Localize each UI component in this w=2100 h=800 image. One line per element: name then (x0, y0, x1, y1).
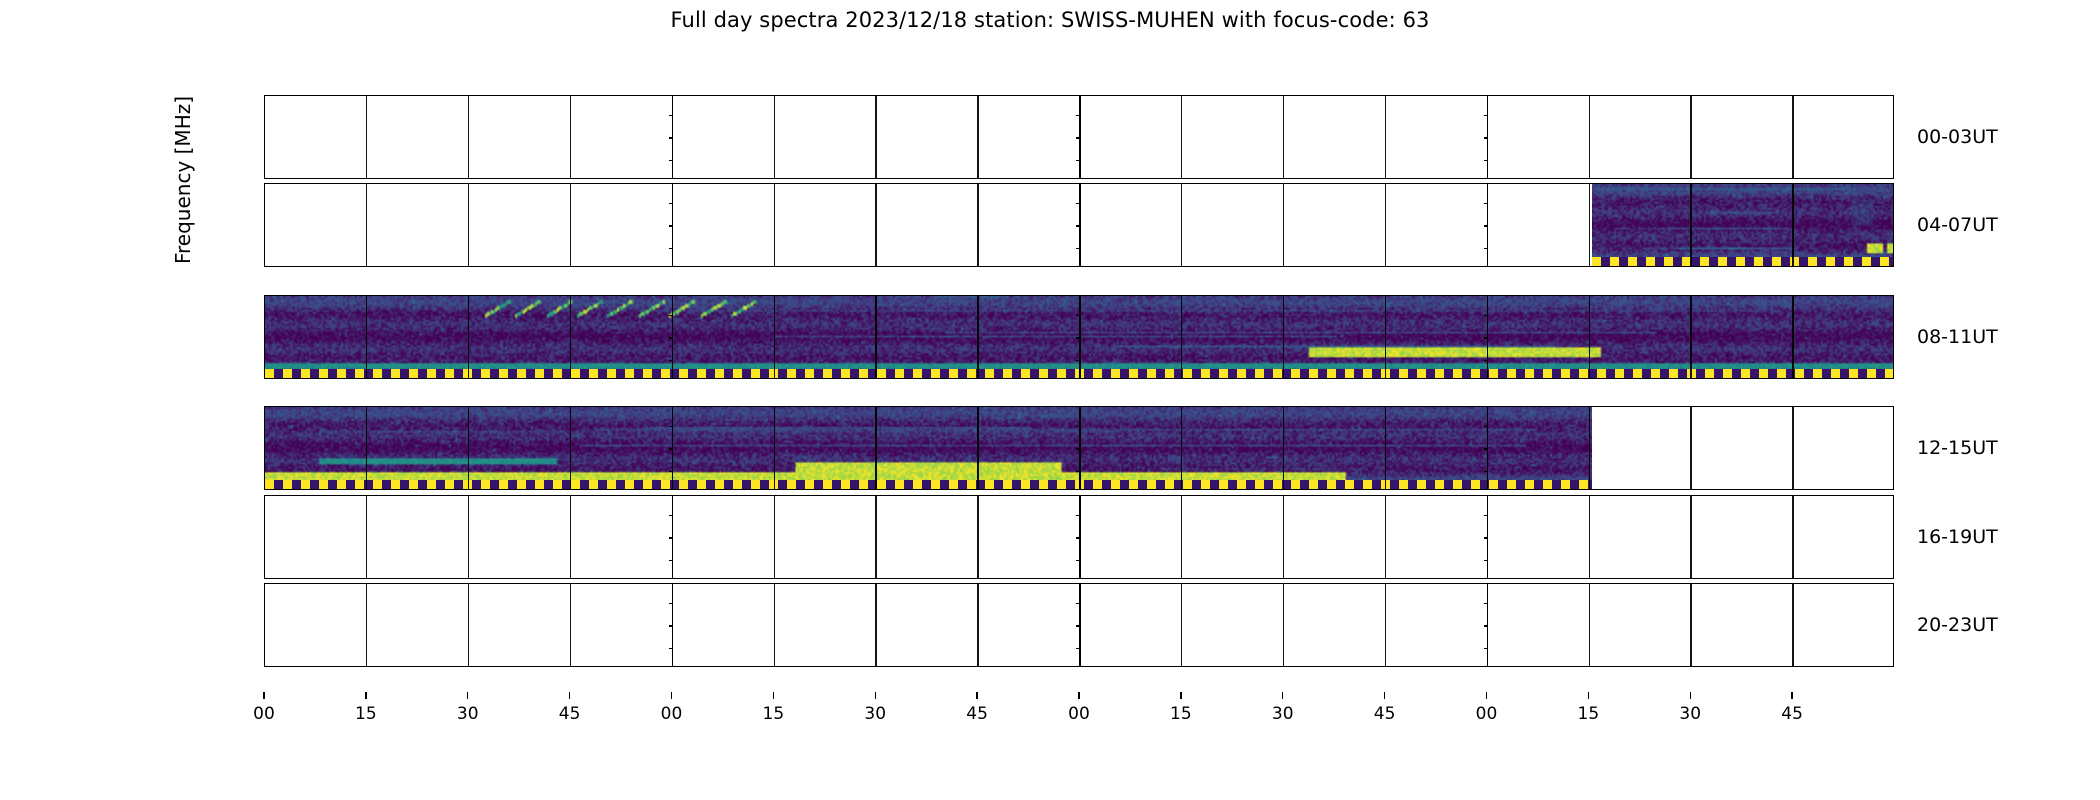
x-tick-label: 15 (1578, 704, 1600, 724)
panel-separator (1792, 407, 1793, 489)
y-inner-tick (1076, 337, 1080, 338)
panel-separator (875, 184, 876, 266)
y-inner-tick (1484, 625, 1488, 626)
x-tick-label: 45 (966, 704, 988, 724)
panel-separator (1181, 584, 1182, 666)
panel-separator (1385, 296, 1386, 378)
panel-separator (1181, 407, 1182, 489)
panel-separator (1385, 96, 1386, 178)
y-inner-tick (669, 115, 673, 116)
spectrogram-row-12-15ut: 755025 (264, 406, 1894, 490)
y-tick-mark (264, 471, 265, 472)
y-tick-mark (264, 137, 265, 138)
panel-separator (468, 184, 469, 266)
x-tick-mark (1282, 692, 1283, 699)
panel-separator (1792, 584, 1793, 666)
x-tick-mark (773, 692, 774, 699)
y-inner-tick (669, 360, 673, 361)
y-tick-mark (264, 225, 265, 226)
y-inner-tick (669, 426, 673, 427)
y-inner-tick (1076, 203, 1080, 204)
panel-separator (1690, 184, 1691, 266)
y-inner-tick (1076, 225, 1080, 226)
y-inner-tick (1484, 603, 1488, 604)
panel-separator (1792, 96, 1793, 178)
x-tick-label: 30 (1272, 704, 1294, 724)
y-inner-tick (1076, 471, 1080, 472)
panel-separator (1690, 496, 1691, 578)
y-tick-mark (264, 160, 265, 161)
panel-separator (774, 496, 775, 578)
panel-separator (977, 184, 978, 266)
y-axis-label: Frequency [MHz] (171, 70, 195, 290)
y-inner-tick (669, 337, 673, 338)
y-inner-tick (1484, 515, 1488, 516)
x-tick-label: 00 (253, 704, 275, 724)
panel-separator (774, 296, 775, 378)
spectrogram-row-16-19ut: 755025 (264, 495, 1894, 579)
panel-separator (977, 407, 978, 489)
x-tick-label: 30 (1679, 704, 1701, 724)
x-tick-label: 00 (1476, 704, 1498, 724)
y-inner-tick (1484, 160, 1488, 161)
y-inner-tick (669, 203, 673, 204)
row-label-16-19ut: 16-19UT (1917, 526, 1998, 548)
panel-separator (1690, 407, 1691, 489)
x-tick-mark (263, 692, 264, 699)
panel-separator (1690, 96, 1691, 178)
panel-separator (468, 296, 469, 378)
x-tick-mark (365, 692, 366, 699)
panel-separator (875, 296, 876, 378)
y-inner-tick (1076, 426, 1080, 427)
y-inner-tick (669, 225, 673, 226)
x-tick-label: 45 (1781, 704, 1803, 724)
y-inner-tick (1076, 603, 1080, 604)
y-inner-tick (1484, 537, 1488, 538)
panel-separator (977, 96, 978, 178)
panel-separator (1385, 407, 1386, 489)
x-tick-label: 00 (661, 704, 683, 724)
y-inner-tick (1484, 560, 1488, 561)
panel-separator (1283, 407, 1284, 489)
y-tick-mark (264, 648, 265, 649)
panel-separator (977, 584, 978, 666)
panel-separator (977, 496, 978, 578)
y-tick-mark (264, 315, 265, 316)
row-label-04-07ut: 04-07UT (1917, 214, 1998, 236)
y-inner-tick (1076, 360, 1080, 361)
y-inner-tick (669, 625, 673, 626)
y-inner-tick (1076, 115, 1080, 116)
panel-separator (1181, 296, 1182, 378)
panel-separator (570, 184, 571, 266)
y-tick-mark (264, 203, 265, 204)
panel-separator (1283, 584, 1284, 666)
panel-separator (1589, 584, 1590, 666)
panel-separator (1283, 496, 1284, 578)
x-tick-label: 15 (1170, 704, 1192, 724)
y-tick-mark (264, 426, 265, 427)
x-tick-label: 30 (457, 704, 479, 724)
row-label-12-15ut: 12-15UT (1917, 437, 1998, 459)
x-axis: 00153045001530450015304500153045 (264, 692, 1894, 694)
y-inner-tick (1484, 315, 1488, 316)
calibration-dash-strip (265, 480, 1592, 489)
x-tick-label: 45 (559, 704, 581, 724)
row-label-20-23ut: 20-23UT (1917, 614, 1998, 636)
y-inner-tick (669, 248, 673, 249)
x-tick-mark (1078, 692, 1079, 699)
panel-separator (468, 584, 469, 666)
y-inner-tick (1484, 426, 1488, 427)
panel-separator (1792, 296, 1793, 378)
y-inner-tick (1484, 225, 1488, 226)
y-inner-tick (1076, 137, 1080, 138)
panel-separator (977, 296, 978, 378)
panel-separator (570, 584, 571, 666)
y-inner-tick (669, 471, 673, 472)
x-tick-mark (1486, 692, 1487, 699)
y-inner-tick (1484, 248, 1488, 249)
panel-separator (1589, 96, 1590, 178)
y-inner-tick (1484, 360, 1488, 361)
y-inner-tick (1484, 448, 1488, 449)
spectrogram-row-08-11ut: 755025 (264, 295, 1894, 379)
panel-separator (1181, 184, 1182, 266)
x-tick-mark (1180, 692, 1181, 699)
panel-separator (1385, 184, 1386, 266)
y-tick-mark (264, 603, 265, 604)
x-tick-label: 45 (1374, 704, 1396, 724)
panel-separator (366, 296, 367, 378)
spectrogram-data (1592, 184, 1894, 266)
y-tick-mark (264, 360, 265, 361)
y-inner-tick (1076, 537, 1080, 538)
y-inner-tick (669, 315, 673, 316)
panel-separator (1181, 96, 1182, 178)
y-inner-tick (1484, 648, 1488, 649)
y-inner-tick (669, 448, 673, 449)
page-title: Full day spectra 2023/12/18 station: SWI… (0, 8, 2100, 32)
y-inner-tick (1076, 625, 1080, 626)
x-tick-mark (467, 692, 468, 699)
y-tick-mark (264, 337, 265, 338)
row-label-08-11ut: 08-11UT (1917, 326, 1998, 348)
x-tick-mark (875, 692, 876, 699)
y-inner-tick (1076, 648, 1080, 649)
y-inner-tick (669, 160, 673, 161)
x-tick-label: 15 (763, 704, 785, 724)
panel-separator (570, 296, 571, 378)
y-inner-tick (669, 603, 673, 604)
panel-separator (875, 496, 876, 578)
panel-separator (468, 407, 469, 489)
y-inner-tick (1484, 137, 1488, 138)
panel-separator (1283, 184, 1284, 266)
x-tick-label: 30 (864, 704, 886, 724)
panel-separator (774, 184, 775, 266)
spectrogram-figure: Full day spectra 2023/12/18 station: SWI… (0, 0, 2100, 800)
spectrogram-row-04-07ut: 755025 (264, 183, 1894, 267)
y-tick-mark (264, 448, 265, 449)
panel-separator (1283, 296, 1284, 378)
y-inner-tick (669, 137, 673, 138)
panel-separator (774, 407, 775, 489)
x-tick-mark (1588, 692, 1589, 699)
calibration-dash-strip (1592, 257, 1894, 266)
y-inner-tick (1076, 160, 1080, 161)
x-tick-mark (1791, 692, 1792, 699)
y-inner-tick (669, 560, 673, 561)
panel-separator (468, 96, 469, 178)
y-tick-mark (264, 560, 265, 561)
y-inner-tick (1076, 248, 1080, 249)
y-tick-mark (264, 115, 265, 116)
panel-separator (366, 584, 367, 666)
panel-separator (366, 407, 367, 489)
x-tick-mark (1690, 692, 1691, 699)
panel-separator (1385, 496, 1386, 578)
panel-separator (1181, 496, 1182, 578)
panel-separator (366, 96, 367, 178)
panel-separator (1589, 407, 1590, 489)
panel-separator (875, 407, 876, 489)
y-inner-tick (1484, 471, 1488, 472)
x-tick-mark (976, 692, 977, 699)
x-tick-mark (671, 692, 672, 699)
y-inner-tick (1484, 115, 1488, 116)
panel-separator (468, 496, 469, 578)
panel-separator (366, 496, 367, 578)
y-inner-tick (1484, 337, 1488, 338)
x-tick-mark (1384, 692, 1385, 699)
y-inner-tick (1076, 515, 1080, 516)
panel-separator (875, 584, 876, 666)
panel-separator (1792, 184, 1793, 266)
panel-separator (1589, 296, 1590, 378)
spectrogram-canvas (265, 407, 1592, 488)
y-inner-tick (669, 648, 673, 649)
y-tick-mark (264, 248, 265, 249)
panel-separator (570, 407, 571, 489)
panel-separator (366, 184, 367, 266)
y-inner-tick (1076, 448, 1080, 449)
panel-separator (1283, 96, 1284, 178)
y-tick-mark (264, 537, 265, 538)
panel-separator (1589, 184, 1590, 266)
y-inner-tick (1484, 203, 1488, 204)
panel-separator (570, 96, 571, 178)
y-inner-tick (669, 515, 673, 516)
spectrogram-row-20-23ut: 755025 (264, 583, 1894, 667)
x-tick-mark (569, 692, 570, 699)
panel-separator (1589, 496, 1590, 578)
panel-separator (875, 96, 876, 178)
spectrogram-canvas (1592, 184, 1894, 265)
panel-separator (570, 496, 571, 578)
row-label-00-03ut: 00-03UT (1917, 126, 1998, 148)
y-inner-tick (1076, 560, 1080, 561)
spectrogram-data (265, 407, 1592, 489)
y-inner-tick (1076, 315, 1080, 316)
panel-separator (1690, 584, 1691, 666)
y-inner-tick (669, 537, 673, 538)
panel-separator (774, 96, 775, 178)
x-tick-label: 15 (355, 704, 377, 724)
x-tick-label: 00 (1068, 704, 1090, 724)
panel-separator (1792, 496, 1793, 578)
panel-separator (774, 584, 775, 666)
panel-separator (1690, 296, 1691, 378)
y-tick-mark (264, 515, 265, 516)
spectrogram-row-00-03ut: 755025 (264, 95, 1894, 179)
y-tick-mark (264, 625, 265, 626)
panel-separator (1385, 584, 1386, 666)
